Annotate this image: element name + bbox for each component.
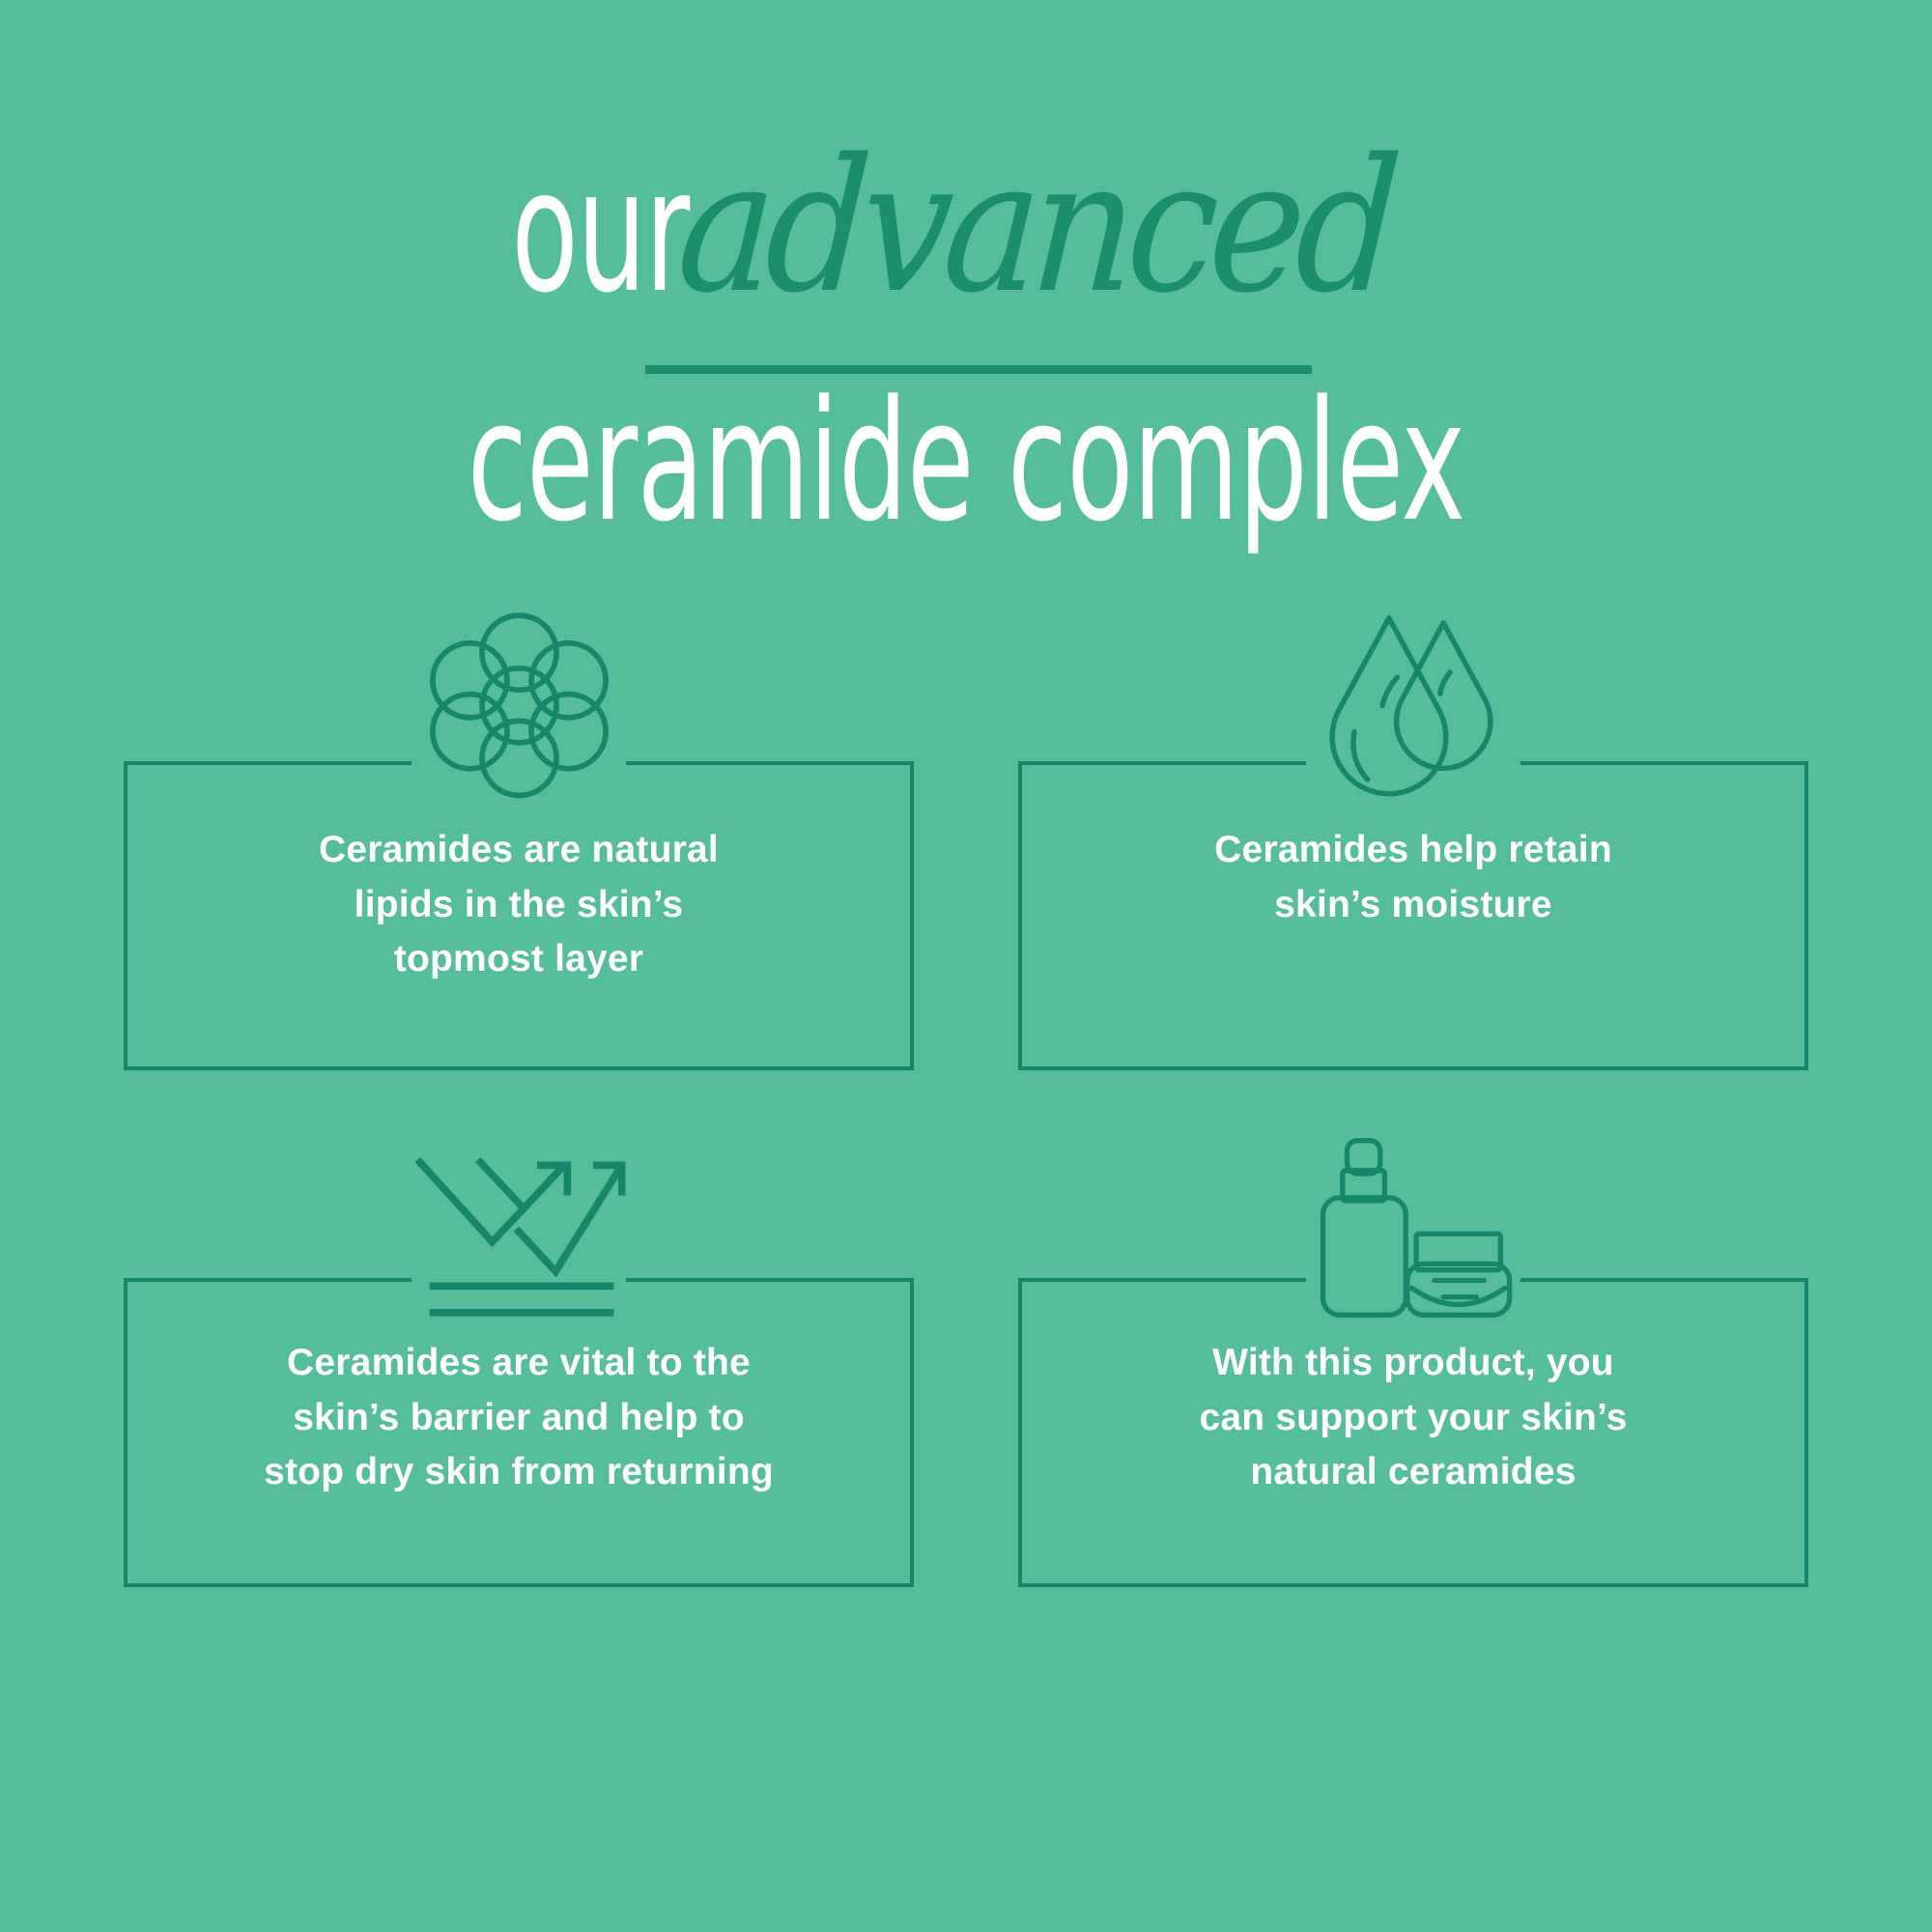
card-caption: Ceramides are vital to the skin’s barrie… (124, 1278, 914, 1587)
card-caption: Ceramides are natural lipids in the skin… (124, 761, 914, 1070)
title-word-advanced: advanced (673, 135, 1397, 319)
benefit-card-moisture: Ceramides help retain skin’s moisture (1018, 761, 1808, 1070)
page-title: ouradvanced ceramide complex (0, 135, 1932, 545)
benefit-card-lipids: Ceramides are natural lipids in the skin… (124, 761, 914, 1070)
card-row-bottom: Ceramides are vital to the skin’s barrie… (124, 1278, 1808, 1587)
title-word-our: our (512, 148, 689, 317)
card-caption: Ceramides help retain skin’s moisture (1018, 761, 1808, 1070)
card-caption: With this product, you can support your … (1018, 1278, 1808, 1587)
card-row-top: Ceramides are natural lipids in the skin… (124, 761, 1808, 1070)
benefit-card-grid: Ceramides are natural lipids in the skin… (124, 761, 1808, 1587)
title-line-two: ceramide complex (261, 379, 1671, 545)
benefit-card-barrier: Ceramides are vital to the skin’s barrie… (124, 1278, 914, 1587)
title-line-one: ouradvanced (442, 135, 1489, 319)
benefit-card-product: With this product, you can support your … (1018, 1278, 1808, 1587)
infographic-page: { "theme": { "background": "#55bd9c", "a… (0, 0, 1932, 1932)
